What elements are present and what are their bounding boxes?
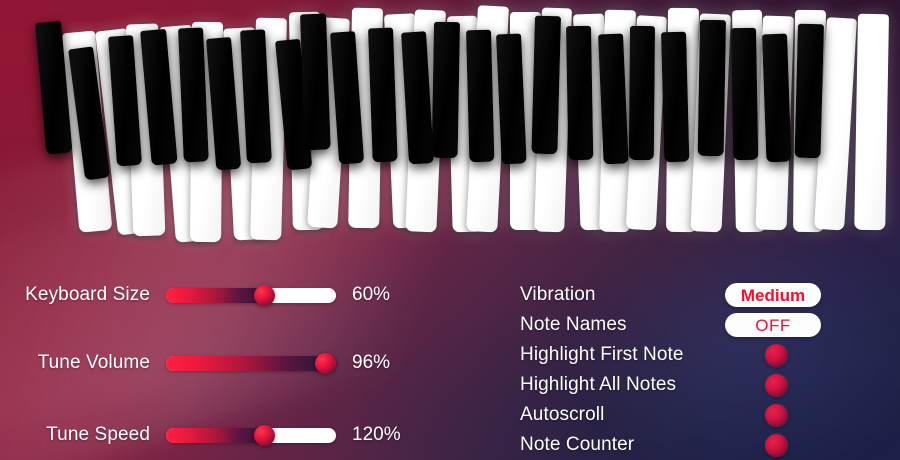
- option-pill-value-vibration: Medium: [741, 287, 805, 304]
- option-label-note-names: Note Names: [520, 314, 627, 336]
- option-pill-vibration[interactable]: Medium: [725, 283, 821, 307]
- slider-fill-tune-volume: [166, 356, 326, 371]
- slider-tune-speed[interactable]: [166, 425, 336, 445]
- option-control-highlight-all-notes[interactable]: [765, 370, 788, 400]
- option-label-note-counter: Note Counter: [520, 434, 634, 456]
- sliders-panel: Keyboard Size60%Tune Volume96%Tune Speed…: [0, 272, 460, 460]
- piano-black-key[interactable]: [531, 16, 561, 155]
- slider-label-tune-speed: Tune Speed: [0, 424, 150, 446]
- option-row-note-names: Note NamesOFF: [520, 310, 900, 340]
- option-pill-value-note-names: OFF: [755, 317, 791, 334]
- slider-value-keyboard-size: 60%: [352, 284, 390, 306]
- option-label-autoscroll: Autoscroll: [520, 404, 604, 426]
- slider-value-tune-speed: 120%: [352, 424, 401, 446]
- piano-black-key[interactable]: [794, 24, 823, 159]
- option-control-autoscroll[interactable]: [765, 400, 788, 430]
- slider-label-tune-volume: Tune Volume: [0, 352, 150, 374]
- slider-row-keyboard-size: Keyboard Size60%: [0, 280, 460, 310]
- option-label-highlight-first-note: Highlight First Note: [520, 344, 684, 366]
- piano-keyboard[interactable]: [0, 0, 900, 272]
- slider-tune-volume[interactable]: [166, 353, 336, 373]
- option-row-highlight-first-note: Highlight First Note: [520, 340, 900, 370]
- slider-label-keyboard-size: Keyboard Size: [0, 284, 150, 306]
- piano-settings-screen: Keyboard Size60%Tune Volume96%Tune Speed…: [0, 0, 900, 460]
- piano-black-key[interactable]: [466, 30, 494, 163]
- piano-white-key[interactable]: [854, 14, 889, 231]
- piano-black-key[interactable]: [629, 26, 655, 160]
- piano-black-key[interactable]: [432, 22, 460, 158]
- option-row-highlight-all-notes: Highlight All Notes: [520, 370, 900, 400]
- slider-knob-tune-speed[interactable]: [254, 425, 275, 446]
- piano-black-key[interactable]: [731, 28, 758, 160]
- option-label-vibration: Vibration: [520, 284, 596, 306]
- slider-knob-tune-volume[interactable]: [315, 353, 336, 374]
- piano-black-key[interactable]: [566, 26, 593, 160]
- piano-black-key[interactable]: [762, 34, 791, 163]
- piano-black-key[interactable]: [368, 28, 398, 163]
- slider-row-tune-speed: Tune Speed120%: [0, 420, 460, 450]
- option-toggle-highlight-all-notes[interactable]: [765, 374, 788, 397]
- piano-black-key[interactable]: [300, 14, 331, 151]
- slider-fill-tune-speed: [166, 428, 265, 443]
- option-control-note-counter[interactable]: [765, 430, 788, 460]
- option-control-vibration[interactable]: Medium: [725, 280, 821, 310]
- piano-black-key[interactable]: [661, 32, 689, 163]
- slider-fill-keyboard-size: [166, 288, 265, 303]
- option-row-vibration: VibrationMedium: [520, 280, 900, 310]
- slider-row-tune-volume: Tune Volume96%: [0, 348, 460, 378]
- slider-value-tune-volume: 96%: [352, 352, 390, 374]
- options-panel: VibrationMediumNote NamesOFFHighlight Fi…: [520, 272, 900, 460]
- option-row-autoscroll: Autoscroll: [520, 400, 900, 430]
- option-toggle-note-counter[interactable]: [765, 434, 788, 457]
- slider-keyboard-size[interactable]: [166, 285, 336, 305]
- option-toggle-autoscroll[interactable]: [765, 404, 788, 427]
- option-label-highlight-all-notes: Highlight All Notes: [520, 374, 676, 396]
- piano-black-key[interactable]: [698, 20, 726, 156]
- option-pill-note-names[interactable]: OFF: [725, 313, 821, 337]
- slider-knob-keyboard-size[interactable]: [254, 285, 275, 306]
- option-control-note-names[interactable]: OFF: [725, 310, 821, 340]
- option-toggle-highlight-first-note[interactable]: [765, 344, 788, 367]
- option-control-highlight-first-note[interactable]: [765, 340, 788, 370]
- option-row-note-counter: Note Counter: [520, 430, 900, 460]
